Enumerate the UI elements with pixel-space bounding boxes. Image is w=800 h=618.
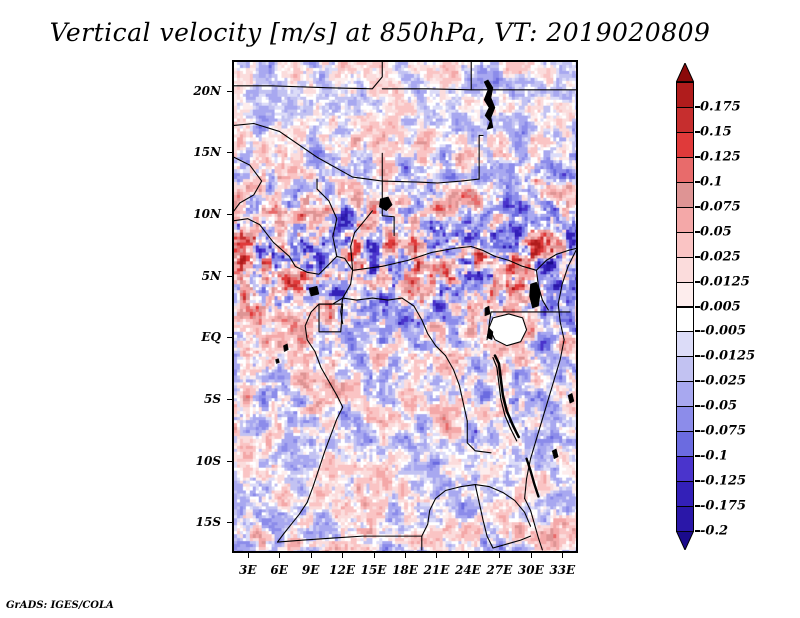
latitude-tick xyxy=(227,461,232,462)
colorbar-label: 0.1 xyxy=(700,174,723,189)
colorbar-cell[interactable] xyxy=(676,331,694,357)
colorbar-cell[interactable] xyxy=(676,132,694,158)
footer-credit: GrADS: IGES/COLA xyxy=(6,600,114,611)
colorbar-tick xyxy=(695,430,700,432)
colorbar-tick xyxy=(695,106,700,108)
latitude-tick xyxy=(227,399,232,400)
colorbar-label: -0.175 xyxy=(700,499,746,514)
longitude-label-9E: 9E xyxy=(302,563,320,577)
longitude-tick xyxy=(248,553,249,558)
colorbar-cell[interactable] xyxy=(676,481,694,507)
colorbar-cell[interactable] xyxy=(676,257,694,283)
colorbar-tick xyxy=(695,480,700,482)
map-plot-area[interactable] xyxy=(232,60,578,553)
colorbar[interactable]: 0.1750.150.1250.10.0750.050.0250.01250.0… xyxy=(676,63,694,550)
latitude-tick xyxy=(227,152,232,153)
colorbar-tick xyxy=(695,306,700,308)
latitude-label-10S: 10S xyxy=(174,454,221,468)
colorbar-cell[interactable] xyxy=(676,182,694,208)
latitude-tick xyxy=(227,522,232,523)
colorbar-cell[interactable] xyxy=(676,381,694,407)
latitude-label-10N: 10N xyxy=(174,207,221,221)
latitude-tick xyxy=(227,276,232,277)
longitude-tick xyxy=(436,553,437,558)
colorbar-cell[interactable] xyxy=(676,232,694,258)
colorbar-tick xyxy=(695,131,700,133)
latitude-label-20N: 20N xyxy=(174,84,221,98)
longitude-label-33E: 33E xyxy=(549,563,575,577)
colorbar-max-arrow xyxy=(676,63,694,82)
longitude-label-6E: 6E xyxy=(270,563,288,577)
colorbar-label: 0.05 xyxy=(700,224,732,239)
longitude-tick xyxy=(342,553,343,558)
colorbar-label: 0.125 xyxy=(700,149,741,164)
colorbar-cell[interactable] xyxy=(676,431,694,457)
colorbar-cell[interactable] xyxy=(676,282,694,308)
longitude-label-30E: 30E xyxy=(518,563,544,577)
colorbar-tick xyxy=(695,256,700,258)
colorbar-tick xyxy=(695,181,700,183)
colorbar-label: -0.05 xyxy=(700,399,737,414)
colorbar-label: 0.15 xyxy=(700,124,732,139)
latitude-tick xyxy=(227,214,232,215)
colorbar-label: -0.075 xyxy=(700,424,746,439)
page-title: Vertical velocity [m/s] at 850hPa, VT: 2… xyxy=(0,18,760,47)
colorbar-label: -0.2 xyxy=(700,524,728,539)
longitude-label-15E: 15E xyxy=(361,563,387,577)
longitude-label-18E: 18E xyxy=(392,563,418,577)
longitude-label-3E: 3E xyxy=(239,563,257,577)
longitude-tick xyxy=(311,553,312,558)
colorbar-cell[interactable] xyxy=(676,456,694,482)
colorbar-label: 0.025 xyxy=(700,249,741,264)
colorbar-cell[interactable] xyxy=(676,157,694,183)
latitude-label-15N: 15N xyxy=(174,145,221,159)
latitude-label-5S: 5S xyxy=(174,392,221,406)
colorbar-label: 0.175 xyxy=(700,99,741,114)
latitude-tick xyxy=(227,91,232,92)
colorbar-cell[interactable] xyxy=(676,356,694,382)
colorbar-min-arrow xyxy=(676,531,694,550)
colorbar-tick xyxy=(695,281,700,283)
longitude-label-27E: 27E xyxy=(486,563,512,577)
colorbar-tick xyxy=(695,355,700,357)
colorbar-cell[interactable] xyxy=(676,207,694,233)
longitude-tick xyxy=(531,553,532,558)
colorbar-tick xyxy=(695,330,700,332)
colorbar-label: -0.125 xyxy=(700,474,746,489)
colorbar-label: -0.1 xyxy=(700,449,728,464)
colorbar-cell[interactable] xyxy=(676,82,694,108)
longitude-tick xyxy=(499,553,500,558)
longitude-tick xyxy=(562,553,563,558)
latitude-label-15S: 15S xyxy=(174,515,221,529)
colorbar-cell[interactable] xyxy=(676,107,694,133)
colorbar-cell[interactable] xyxy=(676,506,694,532)
colorbar-cell[interactable] xyxy=(676,406,694,432)
colorbar-tick xyxy=(695,380,700,382)
colorbar-tick xyxy=(695,231,700,233)
colorbar-label: 0.075 xyxy=(700,199,741,214)
longitude-tick xyxy=(468,553,469,558)
colorbar-label: 0.005 xyxy=(700,299,741,314)
longitude-tick xyxy=(279,553,280,558)
colorbar-label: -0.025 xyxy=(700,374,746,389)
longitude-label-21E: 21E xyxy=(424,563,450,577)
longitude-tick xyxy=(374,553,375,558)
latitude-label-EQ: EQ xyxy=(174,330,221,344)
latitude-tick xyxy=(227,337,232,338)
colorbar-label: 0.0125 xyxy=(700,274,750,289)
colorbar-label: -0.0125 xyxy=(700,349,755,364)
colorbar-tick xyxy=(695,156,700,158)
colorbar-label: -0.005 xyxy=(700,324,746,339)
colorbar-tick xyxy=(695,405,700,407)
longitude-label-12E: 12E xyxy=(329,563,355,577)
colorbar-tick xyxy=(695,455,700,457)
longitude-label-24E: 24E xyxy=(455,563,481,577)
longitude-tick xyxy=(405,553,406,558)
colorbar-tick xyxy=(695,206,700,208)
colorbar-tick xyxy=(695,530,700,532)
map-boundaries-overlay xyxy=(234,62,576,551)
latitude-label-5N: 5N xyxy=(174,269,221,283)
colorbar-cell[interactable] xyxy=(676,307,694,333)
colorbar-tick xyxy=(695,505,700,507)
